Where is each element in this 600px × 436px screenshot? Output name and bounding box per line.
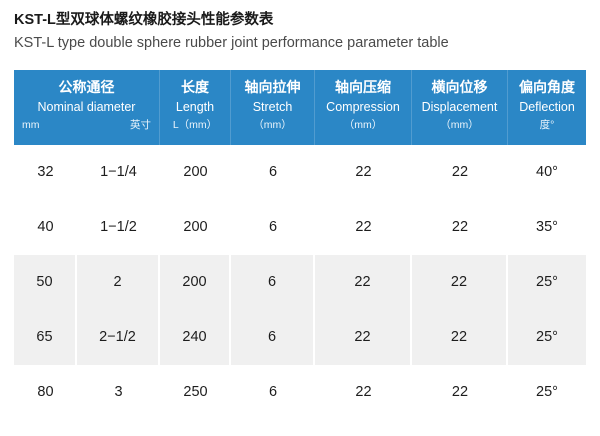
header-cn-deflection: 偏向角度 [508,77,586,98]
header-en-deflection: Deflection [508,98,586,117]
cell-stretch: 6 [231,310,315,365]
header-en-length: Length [160,98,230,117]
header-cn-displacement: 横向位移 [412,77,507,98]
header-unit-deflection: 度° [508,117,586,134]
cell-nominal-diameter-inch: 1−1/2 [77,200,160,255]
header-units-nominal-diameter: mm 英寸 [14,117,159,134]
cell-nominal-diameter-inch: 3 [77,365,160,420]
document-title-block: KST-L型双球体螺纹橡胶接头性能参数表 KST-L type double s… [14,10,586,54]
header-en-nominal-diameter: Nominal diameter [14,98,159,117]
header-unit-length: L（mm） [160,117,230,134]
cell-stretch: 6 [231,200,315,255]
cell-nominal-diameter-mm: 40 [14,200,77,255]
page-root: KST-L型双球体螺纹橡胶接头性能参数表 KST-L type double s… [0,0,600,436]
cell-compression: 22 [315,145,412,200]
table-row: 32 1−1/4 200 6 22 22 40° [14,145,586,200]
cell-displacement: 22 [412,310,508,365]
cell-length: 200 [160,145,231,200]
cell-deflection: 25° [508,255,586,310]
table-header-nominal-diameter: 公称通径 Nominal diameter mm 英寸 [14,70,160,145]
parameter-table: 公称通径 Nominal diameter mm 英寸 长度 Length L（… [14,70,586,420]
page-title-chinese: KST-L型双球体螺纹橡胶接头性能参数表 [14,10,586,30]
cell-nominal-diameter-mm: 65 [14,310,77,365]
header-unit-stretch: （mm） [231,117,314,134]
cell-nominal-diameter-mm: 80 [14,365,77,420]
table-header-length: 长度 Length L（mm） [160,70,231,145]
cell-displacement: 22 [412,365,508,420]
cell-length: 250 [160,365,231,420]
table-header-displacement: 横向位移 Displacement （mm） [412,70,508,145]
table-header-compression: 轴向压缩 Compression （mm） [315,70,412,145]
header-cn-length: 长度 [160,77,230,98]
cell-deflection: 40° [508,145,586,200]
table-row: 40 1−1/2 200 6 22 22 35° [14,200,586,255]
header-unit-mm: mm [22,117,40,134]
table-row: 50 2 200 6 22 22 25° [14,255,586,310]
header-unit-compression: （mm） [315,117,411,134]
header-en-compression: Compression [315,98,411,117]
header-unit-displacement: （mm） [412,117,507,134]
header-cn-compression: 轴向压缩 [315,77,411,98]
cell-stretch: 6 [231,255,315,310]
cell-compression: 22 [315,200,412,255]
header-cn-stretch: 轴向拉伸 [231,77,314,98]
table-header-stretch: 轴向拉伸 Stretch （mm） [231,70,315,145]
cell-displacement: 22 [412,255,508,310]
cell-nominal-diameter-inch: 2 [77,255,160,310]
header-en-stretch: Stretch [231,98,314,117]
cell-stretch: 6 [231,365,315,420]
cell-displacement: 22 [412,200,508,255]
cell-nominal-diameter-mm: 32 [14,145,77,200]
cell-nominal-diameter-inch: 2−1/2 [77,310,160,365]
table-row: 80 3 250 6 22 22 25° [14,365,586,420]
table-header-row: 公称通径 Nominal diameter mm 英寸 长度 Length L（… [14,70,586,145]
cell-displacement: 22 [412,145,508,200]
cell-length: 200 [160,200,231,255]
cell-compression: 22 [315,255,412,310]
cell-compression: 22 [315,365,412,420]
cell-compression: 22 [315,310,412,365]
table-body: 32 1−1/4 200 6 22 22 40° 40 1−1/2 200 6 … [14,145,586,420]
header-unit-inch: 英寸 [130,117,151,134]
header-en-displacement: Displacement [412,98,507,117]
cell-deflection: 25° [508,365,586,420]
cell-stretch: 6 [231,145,315,200]
cell-deflection: 25° [508,310,586,365]
cell-deflection: 35° [508,200,586,255]
cell-length: 200 [160,255,231,310]
header-cn-nominal-diameter: 公称通径 [14,77,159,98]
cell-nominal-diameter-inch: 1−1/4 [77,145,160,200]
table-row: 65 2−1/2 240 6 22 22 25° [14,310,586,365]
page-subtitle-english: KST-L type double sphere rubber joint pe… [14,32,586,54]
cell-nominal-diameter-mm: 50 [14,255,77,310]
cell-length: 240 [160,310,231,365]
table-header-deflection: 偏向角度 Deflection 度° [508,70,586,145]
